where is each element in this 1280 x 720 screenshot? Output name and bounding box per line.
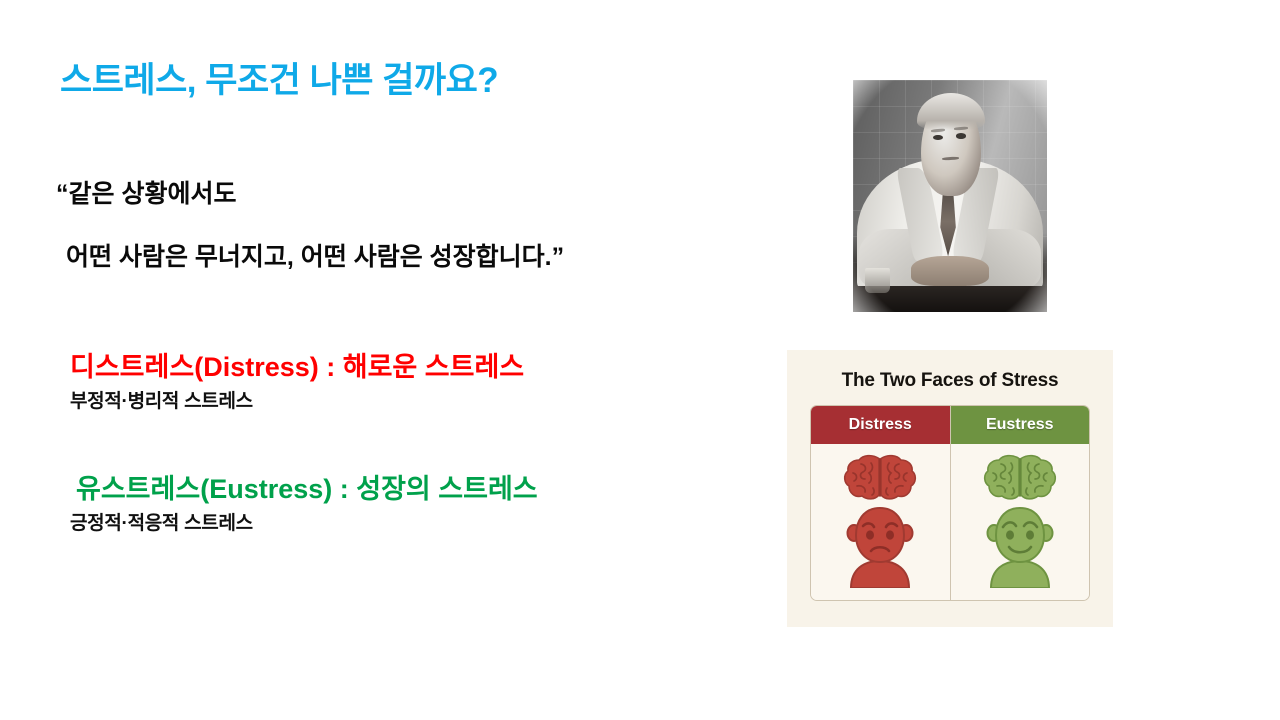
distress-block: 디스트레스(Distress) : 해로운 스트레스 부정적·병리적 스트레스 (70, 352, 730, 413)
quote-line-2: 어떤 사람은 무너지고, 어떤 사람은 성장합니다.” (56, 245, 756, 270)
happy-face-shoulders (991, 561, 1049, 588)
eustress-block: 유스트레스(Eustress) : 성장의 스트레스 긍정적·적응적 스트레스 (70, 474, 730, 535)
photo-hands (911, 256, 989, 286)
scientist-photo (845, 72, 1055, 320)
two-faces-of-stress-infographic: The Two Faces of Stress Distress (787, 350, 1113, 627)
infographic-title: The Two Faces of Stress (787, 370, 1113, 392)
distress-heading: 디스트레스(Distress) : 해로운 스트레스 (70, 352, 730, 383)
sad-face-shoulders (851, 561, 909, 588)
distress-subtitle: 부정적·병리적 스트레스 (70, 386, 730, 413)
eustress-subtitle: 긍정적·적응적 스트레스 (70, 508, 730, 535)
slide-canvas: { "slide": { "title": "스트레스, 무조건 나쁜 걸까요?… (0, 0, 1280, 720)
quote-line-1: “같은 상황에서도 (56, 182, 756, 207)
photo-image (853, 80, 1047, 312)
infographic-table: Distress (810, 405, 1090, 601)
sad-face-icon (841, 506, 919, 588)
quote-block: “같은 상황에서도 어떤 사람은 무너지고, 어떤 사람은 성장합니다.” (56, 182, 756, 270)
column-header-distress: Distress (811, 406, 950, 444)
page-title: 스트레스, 무조건 나쁜 걸까요? (60, 52, 498, 103)
brain-icon (841, 452, 919, 504)
infographic-column-eustress: Eustress (951, 406, 1090, 600)
eustress-icon-stack (951, 452, 1090, 588)
column-body-eustress (951, 444, 1090, 600)
distress-icon-stack (811, 452, 950, 588)
infographic-column-distress: Distress (811, 406, 951, 600)
eustress-heading: 유스트레스(Eustress) : 성장의 스트레스 (70, 474, 730, 505)
photo-desk-object (865, 268, 890, 294)
brain-icon (981, 452, 1059, 504)
column-header-eustress: Eustress (951, 406, 1090, 444)
column-body-distress (811, 444, 950, 600)
photo-left-eye (933, 135, 944, 141)
happy-face-icon (981, 506, 1059, 588)
